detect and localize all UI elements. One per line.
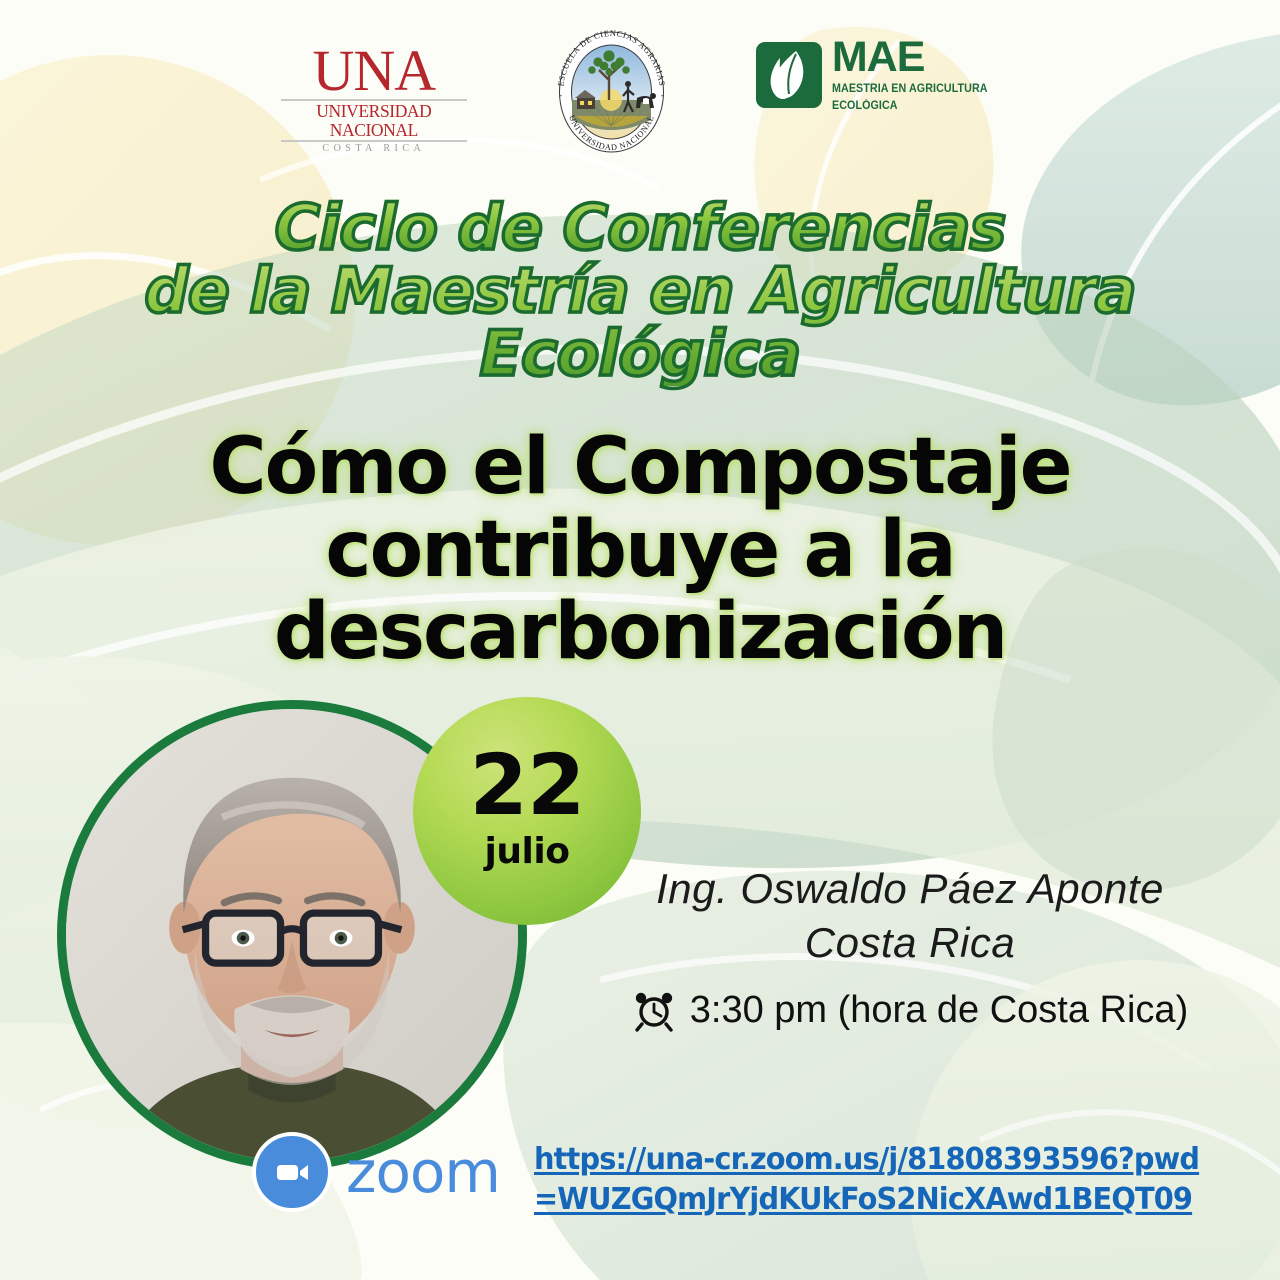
date-day: 22 xyxy=(470,750,585,821)
conference-title-line1: Cómo el Compostaje contribuye a la xyxy=(30,426,1250,591)
date-month: julio xyxy=(485,831,570,872)
una-location: COSTA RICA xyxy=(281,143,467,154)
zoom-wordmark: zoom xyxy=(346,1143,500,1201)
video-camera-icon xyxy=(252,1132,332,1212)
mae-wordmark: MAE xyxy=(832,36,999,79)
event-time-row: 3:30 pm (hora de Costa Rica) xyxy=(600,988,1220,1032)
speaker-info: Ing. Oswaldo Páez Aponte Costa Rica xyxy=(600,862,1220,970)
alarm-clock-icon xyxy=(632,988,676,1032)
zoom-logo: zoom xyxy=(252,1132,500,1212)
svg-text:-: - xyxy=(559,90,562,100)
date-badge: 22 julio xyxy=(413,697,641,925)
logo-strip: UNA UNIVERSIDAD NACIONAL COSTA RICA xyxy=(0,28,1280,148)
mae-tagline-line2: ECOLÓGICA xyxy=(832,99,988,113)
speaker-country: Costa Rica xyxy=(600,916,1220,970)
mae-leaf-icon xyxy=(756,42,822,108)
una-divider-bottom xyxy=(281,140,467,142)
event-time-text: 3:30 pm (hora de Costa Rica) xyxy=(690,989,1188,1032)
conference-title-line2: descarbonización xyxy=(30,591,1250,674)
zoom-meeting-link[interactable]: https://una-cr.zoom.us/j/81808393596?pwd… xyxy=(534,1140,1206,1219)
speaker-name: Ing. Oswaldo Páez Aponte xyxy=(600,862,1220,916)
una-logo: UNA UNIVERSIDAD NACIONAL COSTA RICA xyxy=(281,28,467,154)
una-subtitle: UNIVERSIDAD NACIONAL xyxy=(281,102,467,139)
conference-title: Cómo el Compostaje contribuye a la desca… xyxy=(30,426,1250,674)
conference-poster: UNA UNIVERSIDAD NACIONAL COSTA RICA xyxy=(0,0,1280,1280)
una-wordmark: UNA xyxy=(281,44,467,97)
svg-text:-: - xyxy=(661,90,664,100)
mae-tagline-line1: MAESTRIA EN AGRICULTURA xyxy=(832,82,988,96)
mae-logo: MAE MAESTRIA EN AGRICULTURA ECOLÓGICA xyxy=(756,28,999,114)
eca-seal-icon: ESCUELA DE CIENCIAS AGRARIAS UNIVERSIDAD… xyxy=(549,28,674,153)
